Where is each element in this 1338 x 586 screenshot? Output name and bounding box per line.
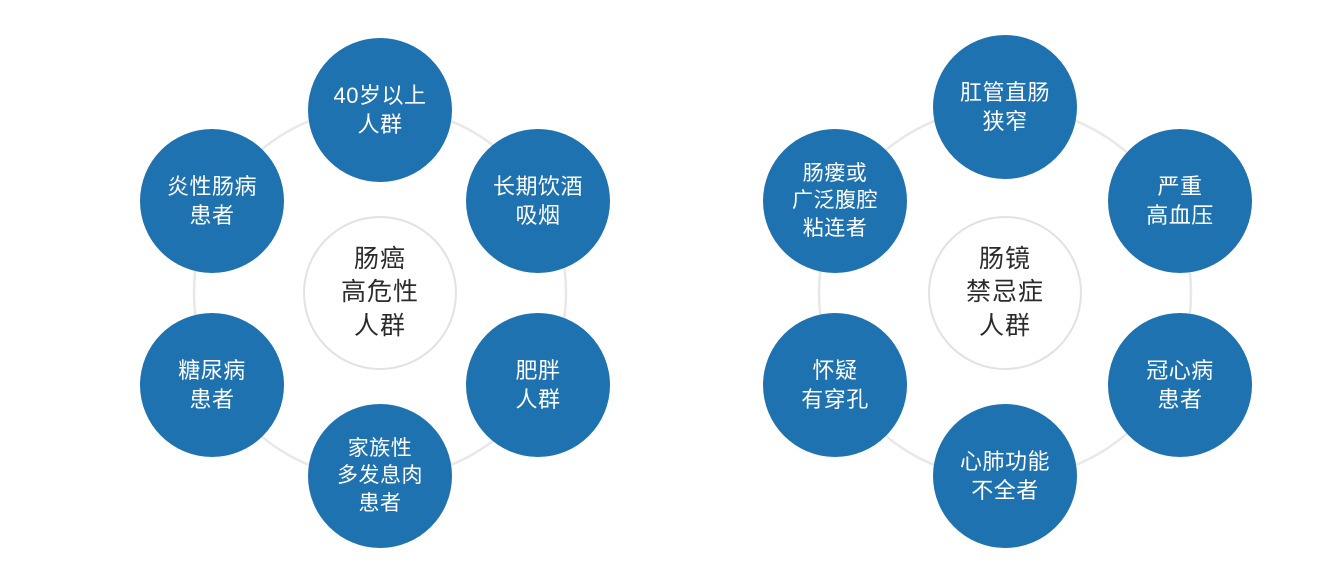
node-label-left-lower-left: 糖尿病 患者: [172, 356, 252, 414]
node-left-upper-right[interactable]: 长期饮酒 吸烟: [466, 129, 610, 273]
node-left-top[interactable]: 40岁以上 人群: [308, 38, 452, 182]
node-label-right-upper-right: 严重 高血压: [1140, 172, 1220, 230]
node-label-right-bottom: 心肺功能 不全者: [954, 447, 1056, 505]
node-right-lower-right[interactable]: 冠心病 患者: [1108, 313, 1252, 457]
hub-label-right: 肠镜 禁忌症 人群: [966, 243, 1044, 344]
cluster-colonoscopy-contraindications: 肠镜 禁忌症 人群 肛管直肠 狭窄 严重 高血压 冠心病 患者 心肺功能 不全者…: [669, 0, 1338, 586]
hub-circle-left: 肠癌 高危性 人群: [303, 216, 457, 370]
node-left-bottom[interactable]: 家族性 多发息肉 患者: [308, 404, 452, 548]
node-label-left-upper-right: 长期饮酒 吸烟: [487, 172, 589, 230]
node-right-lower-left[interactable]: 怀疑 有穿孔: [763, 313, 907, 457]
hub-circle-right: 肠镜 禁忌症 人群: [928, 216, 1082, 370]
node-right-upper-right[interactable]: 严重 高血压: [1108, 129, 1252, 273]
node-label-right-lower-left: 怀疑 有穿孔: [795, 356, 875, 414]
node-left-upper-left[interactable]: 炎性肠病 患者: [140, 129, 284, 273]
node-label-left-top: 40岁以上 人群: [328, 81, 433, 139]
node-left-lower-left[interactable]: 糖尿病 患者: [140, 313, 284, 457]
node-left-lower-right[interactable]: 肥胖 人群: [466, 313, 610, 457]
node-label-left-lower-right: 肥胖 人群: [509, 356, 566, 414]
node-label-left-upper-left: 炎性肠病 患者: [161, 172, 263, 230]
node-label-right-top: 肛管直肠 狭窄: [954, 78, 1056, 136]
diagram-canvas: 肠癌 高危性 人群 40岁以上 人群 长期饮酒 吸烟 肥胖 人群 家族性 多发息…: [0, 0, 1338, 586]
node-right-bottom[interactable]: 心肺功能 不全者: [933, 404, 1077, 548]
node-right-upper-left[interactable]: 肠瘘或 广泛腹腔 粘连者: [763, 129, 907, 273]
node-label-left-bottom: 家族性 多发息肉 患者: [331, 435, 429, 517]
cluster-colorectal-cancer-high-risk: 肠癌 高危性 人群 40岁以上 人群 长期饮酒 吸烟 肥胖 人群 家族性 多发息…: [0, 0, 669, 586]
node-label-right-upper-left: 肠瘘或 广泛腹腔 粘连者: [786, 160, 884, 242]
node-label-right-lower-right: 冠心病 患者: [1140, 356, 1220, 414]
node-right-top[interactable]: 肛管直肠 狭窄: [933, 35, 1077, 179]
hub-label-left: 肠癌 高危性 人群: [341, 243, 419, 344]
